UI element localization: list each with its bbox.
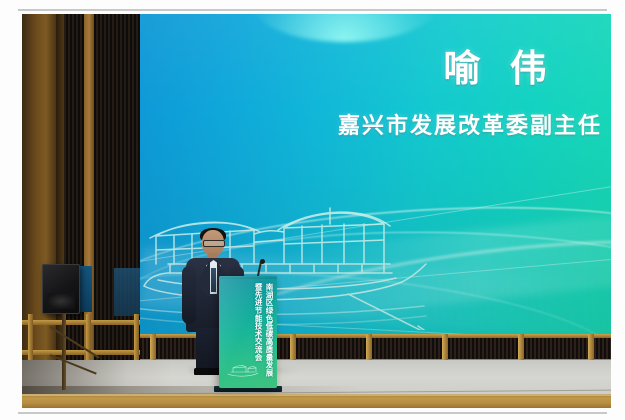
page-margin-left xyxy=(0,0,22,420)
page-rule-bottom xyxy=(18,412,607,414)
stage-front-edge-highlight xyxy=(22,394,611,396)
person-tie xyxy=(211,268,216,292)
person-arm-left xyxy=(182,266,196,324)
screenshot-frame: 喻 伟 嘉兴市发展改革委副主任 xyxy=(0,0,625,420)
wall-blue-panel-small xyxy=(78,266,92,312)
page-margin-top xyxy=(0,0,625,14)
podium-banner-line-2: 暨先进节能技术交流会 xyxy=(254,283,262,377)
stage-front-edge xyxy=(22,394,611,408)
page-margin-bottom xyxy=(0,408,625,420)
page-margin-right xyxy=(611,0,625,420)
microphone-head-icon xyxy=(260,259,265,264)
stage-scene: 喻 伟 嘉兴市发展改革委副主任 xyxy=(22,14,611,408)
podium-banner-subtext: 绿色低碳 · 高质量发展 xyxy=(268,322,272,355)
glasses-icon xyxy=(203,240,225,247)
podium-boat-mark-icon xyxy=(226,364,260,378)
wall-blue-panel xyxy=(114,268,140,316)
screen-speaker-name: 喻 伟 xyxy=(395,38,605,92)
stage-truss-pole xyxy=(62,314,66,390)
page-rule-top xyxy=(18,9,607,11)
lectern-podium: 南湖区绿色低碳高质量发展 暨先进节能技术交流会 绿色低碳 · 高质量发展 xyxy=(219,276,277,388)
loudspeaker-icon xyxy=(42,264,80,314)
screen-speaker-title: 嘉兴市发展改革委副主任 xyxy=(325,108,611,140)
